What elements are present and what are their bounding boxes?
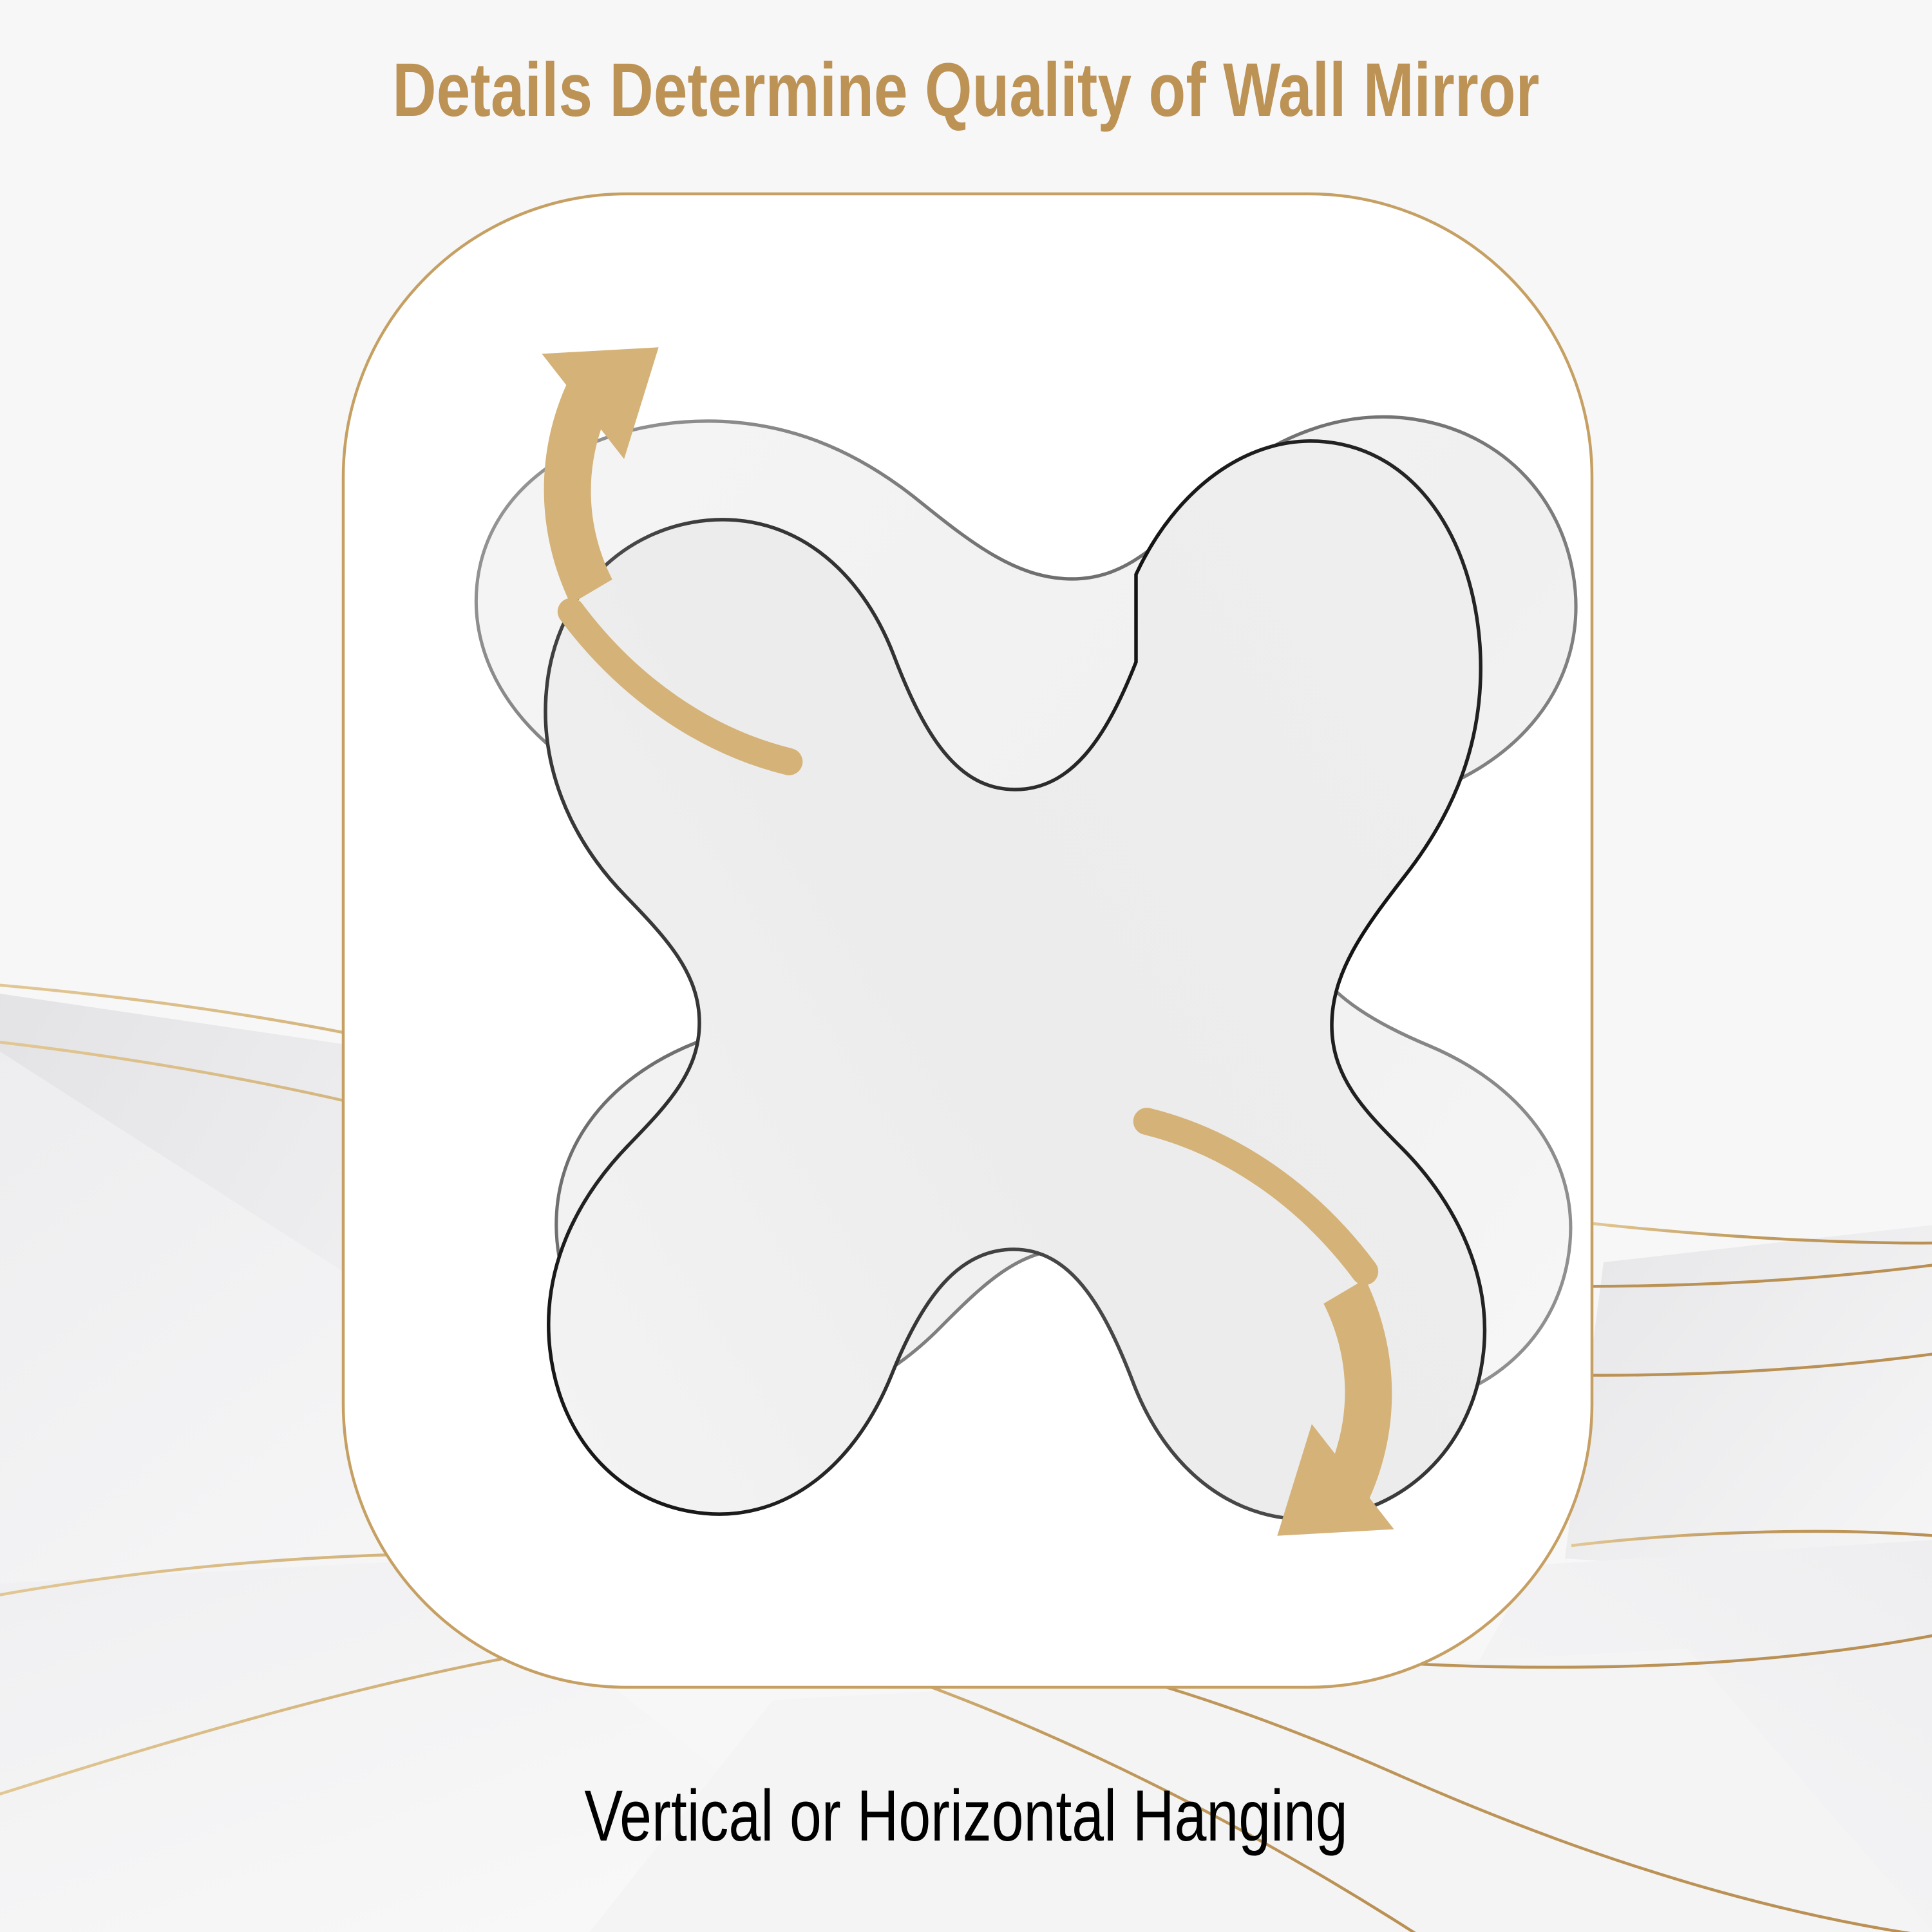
bottom-caption: Vertical or Horizontal Hanging [193,1776,1739,1855]
bg-panel-right-upper [1565,1224,1932,1584]
infographic-canvas: Details Determine Quality of Wall Mirror [0,0,1932,1932]
page-title: Details Determine Quality of Wall Mirror [193,50,1739,131]
mirror-showcase-card [341,192,1594,1689]
